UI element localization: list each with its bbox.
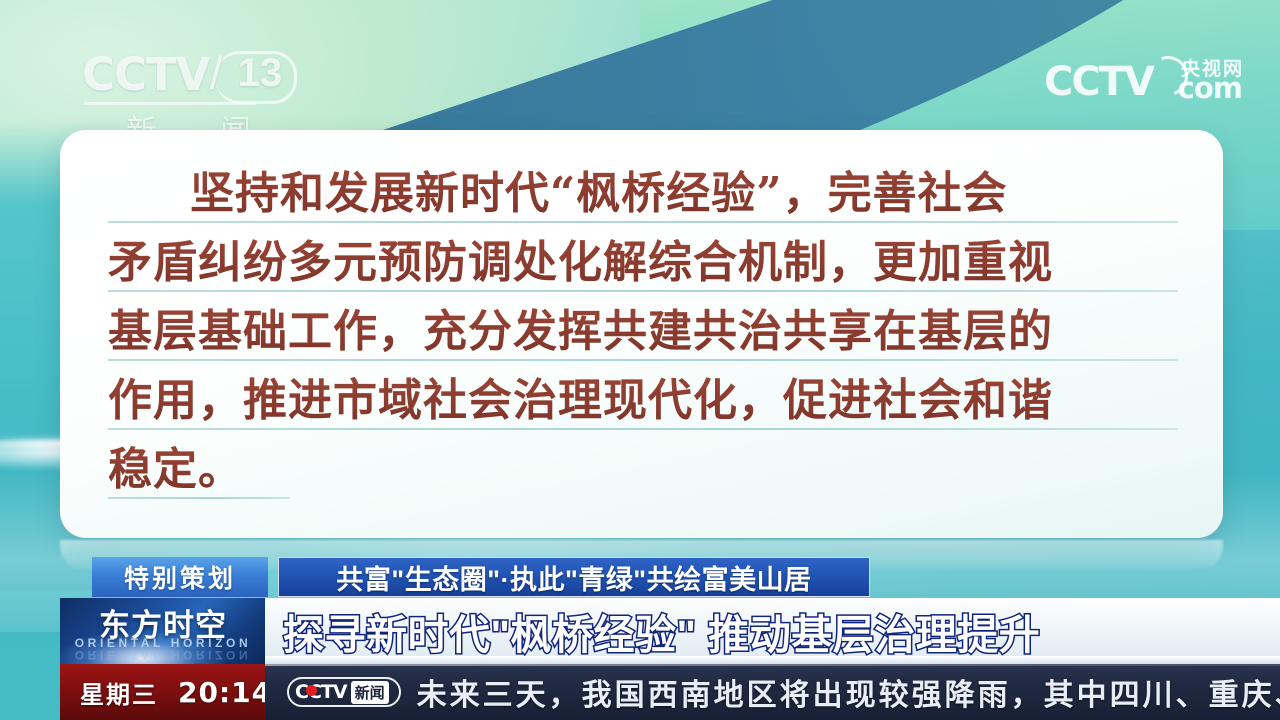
quote-text-body: 坚持和发展新时代“枫桥经验”，完善社会 矛盾纠纷多元预防调处化解综合机制，更加重… — [108, 154, 1178, 499]
program-logo: 东方时空 ORIENTAL HORIZON ORIENTAL HORIZON — [60, 598, 265, 664]
cctv-com-watermark: CCTV 央视网 com — [1044, 52, 1244, 110]
quote-line: 坚持和发展新时代“枫桥经验”，完善社会 — [108, 154, 1178, 223]
headline-bar: 探寻新时代"枫桥经验" 推动基层治理提升 — [265, 598, 1280, 664]
channel-number-badge: / 13 — [212, 51, 296, 98]
ticker-badge-cctv-label: CCTV — [295, 681, 347, 703]
channel-number-text: 13 — [238, 53, 283, 93]
clock-bar: 星期三 20:14 — [60, 664, 265, 720]
channel-logo-underline — [84, 102, 256, 105]
quote-card: 坚持和发展新时代“枫桥经验”，完善社会 矛盾纠纷多元预防调处化解综合机制，更加重… — [60, 130, 1223, 538]
quote-line: 作用，推进市域社会治理现代化，促进社会和谐 — [108, 361, 1178, 430]
channel-slash-icon: / — [210, 50, 223, 96]
quote-line: 矛盾纠纷多元预防调处化解综合机制，更加重视 — [108, 223, 1178, 292]
ticker-badge-red-dot-icon — [306, 685, 317, 696]
channel-cctv-text: CCTV — [82, 52, 210, 97]
ticker-top-strip — [265, 656, 1280, 664]
ticker-highlight-line — [265, 664, 1280, 666]
special-planning-tag: 特别策划 — [92, 557, 268, 597]
subtitle-banner-text: 共富"生态圈"·执此"青绿"共绘富美山居 — [336, 558, 811, 597]
news-ticker: CCTV 新闻 未来三天，我国西南地区将出现较强降雨，其中四川、重庆、贵州 — [265, 664, 1280, 720]
special-planning-tag-label: 特别策划 — [124, 559, 236, 595]
ticker-badge-cn-label: 新闻 — [351, 681, 389, 704]
subtitle-banner: 共富"生态圈"·执此"青绿"共绘富美山居 — [278, 557, 870, 597]
cctv13-channel-logo: CCTV / 13 新 闻 — [82, 48, 297, 140]
quote-line: 稳定。 — [108, 430, 1178, 499]
channel-logo-row: CCTV / 13 — [82, 48, 297, 100]
program-name-en-reflection: ORIENTAL HORIZON — [70, 648, 256, 662]
watermark-com-text: com — [1178, 74, 1242, 103]
clock-time: 20:14 — [178, 676, 272, 709]
ticker-cctv-news-badge: CCTV 新闻 — [287, 677, 401, 707]
quote-line: 基层基础工作，充分发挥共建共治共享在基层的 — [108, 292, 1178, 361]
clock-weekday: 星期三 — [60, 675, 178, 710]
broadcast-screen: CCTV / 13 新 闻 CCTV 央视网 com 坚持和发展新时代“枫桥经验… — [0, 0, 1280, 720]
watermark-cctv-text: CCTV — [1044, 62, 1153, 102]
ticker-badge-cctv-text: CCTV — [295, 681, 347, 703]
ticker-scrolling-text: 未来三天，我国西南地区将出现较强降雨，其中四川、重庆、贵州 — [417, 670, 1280, 714]
headline-text: 探寻新时代"枫桥经验" 推动基层治理提升 — [283, 601, 1040, 661]
